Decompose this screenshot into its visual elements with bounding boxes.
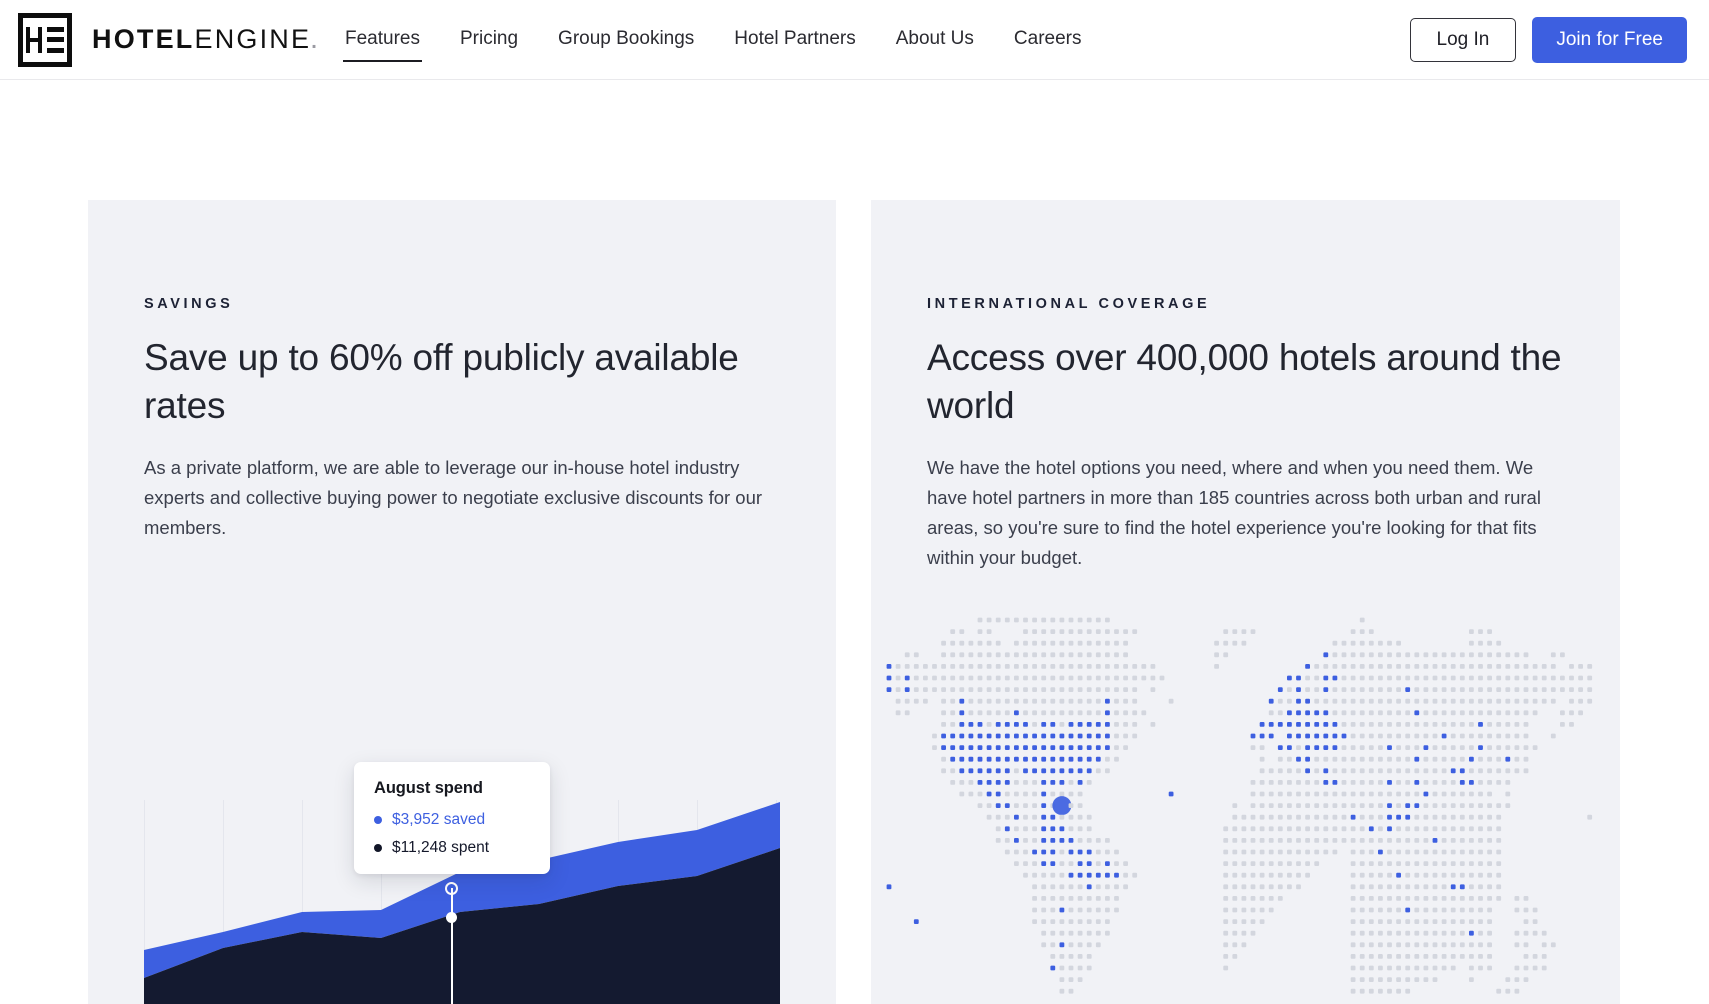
log-in-button[interactable]: Log In bbox=[1410, 18, 1517, 62]
nav-item-features[interactable]: Features bbox=[343, 22, 422, 57]
header-actions: Log In Join for Free bbox=[1410, 17, 1687, 63]
feature-cards-section: SAVINGS Save up to 60% off publicly avai… bbox=[0, 80, 1709, 1004]
chart-tooltip-row-saved: $3,952 saved bbox=[374, 810, 530, 829]
site-header: HOTELENGINE. Features Pricing Group Book… bbox=[0, 0, 1709, 80]
savings-title: Save up to 60% off publicly available ra… bbox=[144, 334, 780, 431]
coverage-eyebrow: INTERNATIONAL COVERAGE bbox=[927, 296, 1564, 312]
chart-tooltip: August spend $3,952 saved $11,248 spent bbox=[354, 762, 550, 874]
brand-wordmark-light: ENGINE bbox=[195, 24, 312, 54]
savings-description: As a private platform, we are able to le… bbox=[144, 453, 780, 543]
savings-eyebrow: SAVINGS bbox=[144, 296, 780, 312]
logo-letter-h bbox=[26, 27, 42, 53]
brand-logo[interactable]: HOTELENGINE. bbox=[18, 13, 319, 67]
nav-item-about-us[interactable]: About Us bbox=[894, 22, 976, 57]
brand-wordmark-dot: . bbox=[311, 31, 319, 53]
saved-legend-dot-icon bbox=[374, 816, 382, 824]
savings-card-body: SAVINGS Save up to 60% off publicly avai… bbox=[88, 200, 836, 543]
coverage-description: We have the hotel options you need, wher… bbox=[927, 453, 1564, 573]
coverage-card-body: INTERNATIONAL COVERAGE Access over 400,0… bbox=[871, 200, 1620, 573]
chart-hover-point-filled bbox=[446, 912, 457, 923]
main-navigation: Features Pricing Group Bookings Hotel Pa… bbox=[343, 22, 1410, 57]
chart-tooltip-spent-value: $11,248 spent bbox=[392, 838, 489, 857]
chart-hover-point-outline bbox=[445, 882, 458, 895]
chart-tooltip-saved-value: $3,952 saved bbox=[392, 810, 485, 829]
brand-wordmark: HOTELENGINE. bbox=[92, 26, 319, 53]
join-for-free-button[interactable]: Join for Free bbox=[1532, 17, 1687, 63]
spent-legend-dot-icon bbox=[374, 844, 382, 852]
logo-letter-e bbox=[47, 27, 64, 53]
chart-tooltip-title: August spend bbox=[374, 779, 530, 798]
spend-savings-area-chart[interactable]: August spend $3,952 saved $11,248 spent … bbox=[144, 800, 780, 1004]
hotel-engine-logo-icon bbox=[18, 13, 72, 67]
nav-item-pricing[interactable]: Pricing bbox=[458, 22, 520, 57]
nav-item-group-bookings[interactable]: Group Bookings bbox=[556, 22, 696, 57]
brand-wordmark-bold: HOTEL bbox=[92, 24, 195, 54]
savings-feature-card: SAVINGS Save up to 60% off publicly avai… bbox=[88, 200, 836, 1004]
coverage-title: Access over 400,000 hotels around the wo… bbox=[927, 334, 1564, 431]
dotted-world-map bbox=[871, 602, 1620, 1004]
chart-tooltip-row-spent: $11,248 spent bbox=[374, 838, 530, 857]
chart-hover-marker-line bbox=[451, 888, 453, 1004]
international-coverage-feature-card: INTERNATIONAL COVERAGE Access over 400,0… bbox=[871, 200, 1620, 1004]
nav-item-careers[interactable]: Careers bbox=[1012, 22, 1084, 57]
nav-item-hotel-partners[interactable]: Hotel Partners bbox=[732, 22, 857, 57]
